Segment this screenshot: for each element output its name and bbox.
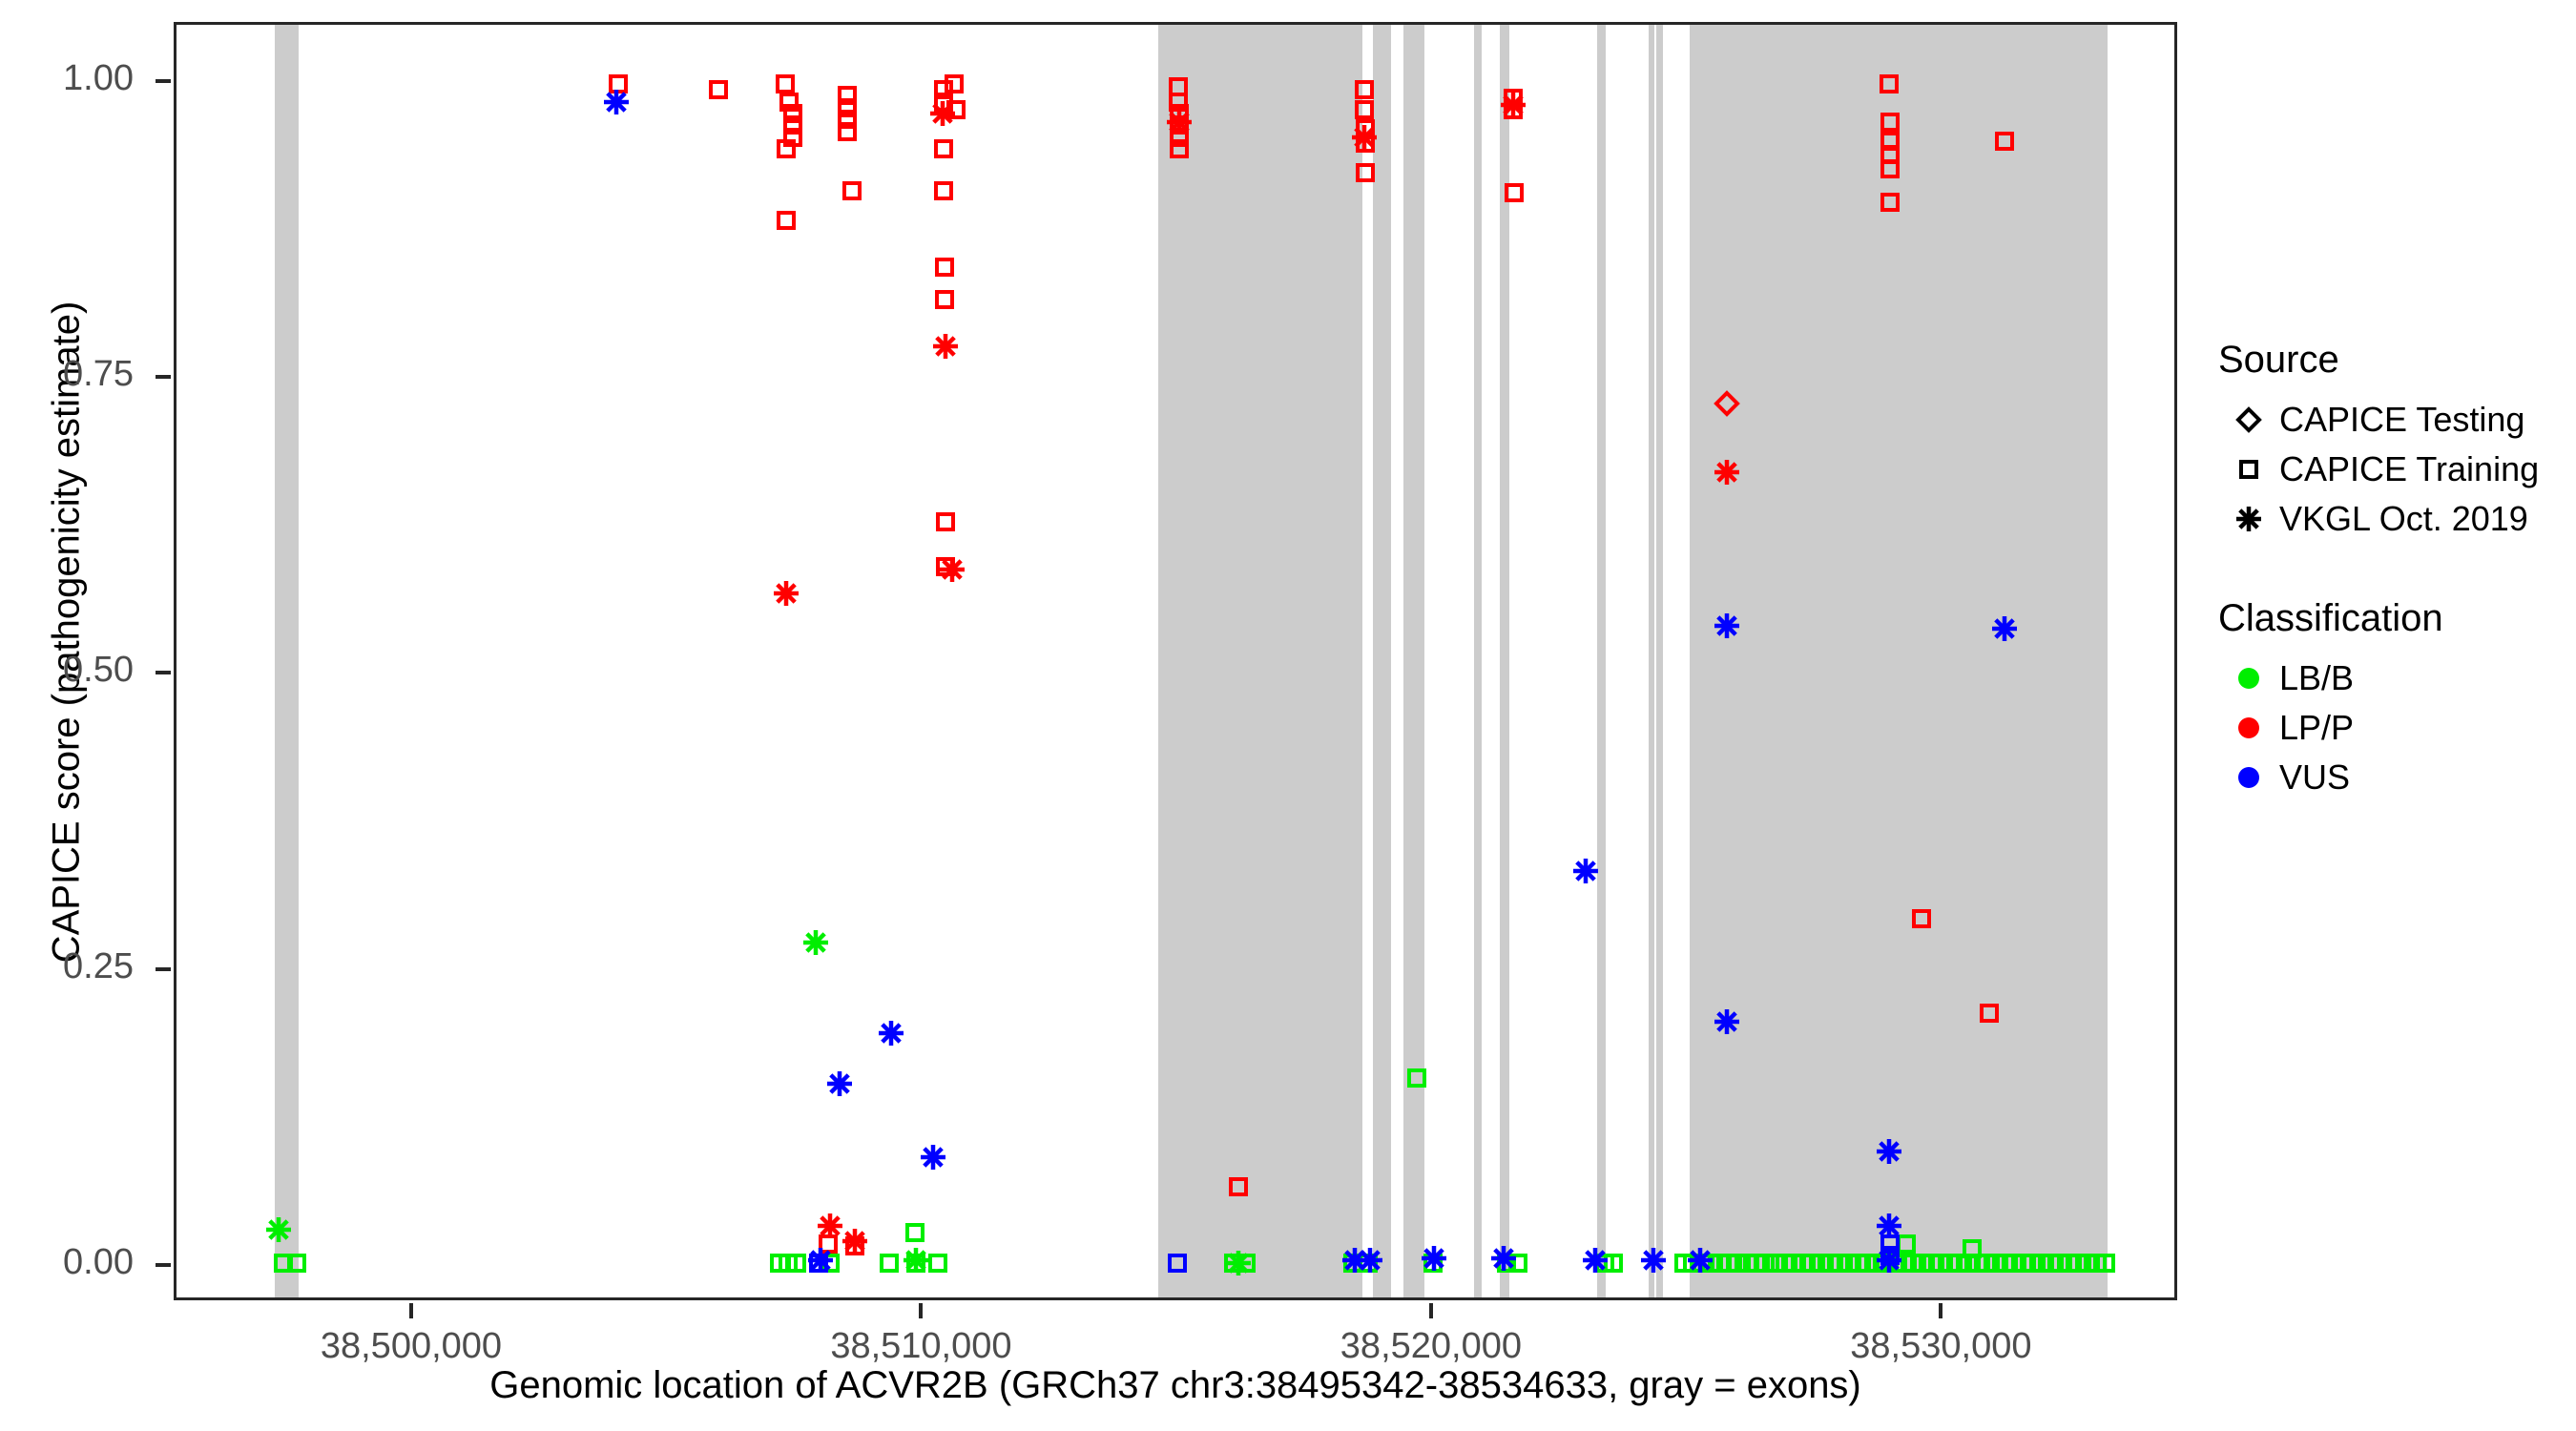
x-tick-mark <box>409 1303 413 1318</box>
data-point <box>806 1246 835 1275</box>
data-point <box>765 1249 794 1277</box>
data-point <box>931 552 960 581</box>
data-point <box>771 70 800 98</box>
y-tick-label: 1.00 <box>19 58 134 99</box>
data-point <box>816 1212 844 1240</box>
data-point <box>816 1249 844 1277</box>
x-tick-mark <box>919 1303 923 1318</box>
y-tick-mark <box>156 671 171 674</box>
data-point <box>929 135 958 163</box>
legend-item-label: LB/B <box>2279 658 2354 698</box>
exon-region <box>1656 25 1663 1297</box>
asterisk-icon <box>2218 505 2279 533</box>
data-point <box>902 1249 930 1277</box>
legend-item-lb-b[interactable]: LB/B <box>2218 653 2571 703</box>
exon-region <box>275 25 299 1297</box>
data-point <box>902 1246 930 1275</box>
data-point <box>779 99 807 128</box>
x-tick-label: 38,520,000 <box>1278 1326 1584 1367</box>
data-point <box>841 1227 869 1255</box>
data-point <box>833 81 862 110</box>
exon-region <box>1403 25 1424 1297</box>
data-point <box>931 508 960 536</box>
data-point <box>1571 857 1600 885</box>
data-point <box>833 93 862 122</box>
data-point <box>814 1230 842 1258</box>
data-point <box>875 1249 904 1277</box>
legend: Source CAPICE TestingCAPICE TrainingVKGL… <box>2218 339 2571 802</box>
data-point <box>833 117 862 146</box>
y-tick-label: 0.75 <box>19 354 134 395</box>
x-tick-label: 38,510,000 <box>768 1326 1073 1367</box>
color-dot-icon <box>2218 763 2279 792</box>
square-icon <box>2218 455 2279 484</box>
data-point <box>930 285 959 314</box>
data-point <box>924 1249 952 1277</box>
data-point <box>838 176 866 205</box>
data-point <box>779 111 807 139</box>
y-tick-label: 0.50 <box>19 650 134 691</box>
data-point <box>877 1019 905 1047</box>
data-point <box>938 555 966 584</box>
legend-item-asterisk[interactable]: VKGL Oct. 2019 <box>2218 494 2571 544</box>
legend-item-label: CAPICE Training <box>2279 449 2539 489</box>
y-tick-mark <box>156 967 171 971</box>
data-point <box>801 928 830 957</box>
exon-region <box>1649 25 1654 1297</box>
x-tick-label: 38,530,000 <box>1788 1326 2093 1367</box>
x-tick-mark <box>1429 1303 1433 1318</box>
data-point <box>833 105 862 134</box>
data-point <box>919 1143 947 1172</box>
y-tick-mark <box>156 375 171 379</box>
y-tick-label: 0.00 <box>19 1242 134 1283</box>
exon-region <box>1500 25 1509 1297</box>
data-point <box>704 75 733 104</box>
legend-item-diamond[interactable]: CAPICE Testing <box>2218 395 2571 445</box>
data-point <box>942 95 970 124</box>
data-point <box>775 88 803 116</box>
data-point <box>929 176 958 205</box>
exon-region <box>1690 25 2109 1297</box>
chart-root: CAPICE score (pathogenicity estimate) 0.… <box>0 0 2576 1431</box>
x-tick-label: 38,500,000 <box>259 1326 564 1367</box>
data-point <box>779 123 807 152</box>
data-point <box>774 1249 802 1277</box>
data-point <box>782 1249 811 1277</box>
color-dot-icon <box>2218 714 2279 742</box>
legend-item-vus[interactable]: VUS <box>2218 753 2571 802</box>
data-point <box>940 70 968 98</box>
data-point <box>901 1218 929 1247</box>
legend-source-items: CAPICE TestingCAPICE TrainingVKGL Oct. 2… <box>2218 395 2571 544</box>
exon-region <box>1597 25 1606 1297</box>
y-tick-label: 0.25 <box>19 946 134 987</box>
legend-spacer <box>2218 544 2571 597</box>
legend-item-label: CAPICE Testing <box>2279 400 2524 440</box>
legend-title-source: Source <box>2218 339 2571 382</box>
data-point <box>604 70 633 98</box>
data-point <box>928 99 957 128</box>
data-point <box>841 1232 869 1260</box>
legend-item-lp-p[interactable]: LP/P <box>2218 703 2571 753</box>
diamond-icon <box>2218 405 2279 434</box>
data-point <box>772 579 800 608</box>
exon-region <box>1474 25 1482 1297</box>
plot-area <box>177 25 2174 1297</box>
data-point <box>825 1069 854 1098</box>
y-tick-mark <box>156 1263 171 1267</box>
data-point <box>602 88 631 116</box>
exon-region <box>1373 25 1391 1297</box>
data-point <box>929 75 958 104</box>
data-point <box>772 135 800 163</box>
data-point <box>804 1249 833 1277</box>
exon-region <box>1158 25 1362 1297</box>
legend-item-square[interactable]: CAPICE Training <box>2218 445 2571 494</box>
data-point <box>931 332 960 361</box>
legend-item-label: LP/P <box>2279 708 2354 748</box>
legend-item-label: VUS <box>2279 757 2350 798</box>
legend-item-label: VKGL Oct. 2019 <box>2279 499 2528 539</box>
color-dot-icon <box>2218 664 2279 693</box>
x-tick-mark <box>1939 1303 1942 1318</box>
legend-title-classification: Classification <box>2218 597 2571 640</box>
legend-classification-items: LB/BLP/PVUS <box>2218 653 2571 802</box>
data-point <box>929 88 958 116</box>
y-tick-mark <box>156 79 171 83</box>
plot-panel <box>174 22 2177 1300</box>
data-point <box>772 206 800 235</box>
x-axis-title: Genomic location of ACVR2B (GRCh37 chr3:… <box>174 1364 2177 1407</box>
data-point <box>930 253 959 281</box>
